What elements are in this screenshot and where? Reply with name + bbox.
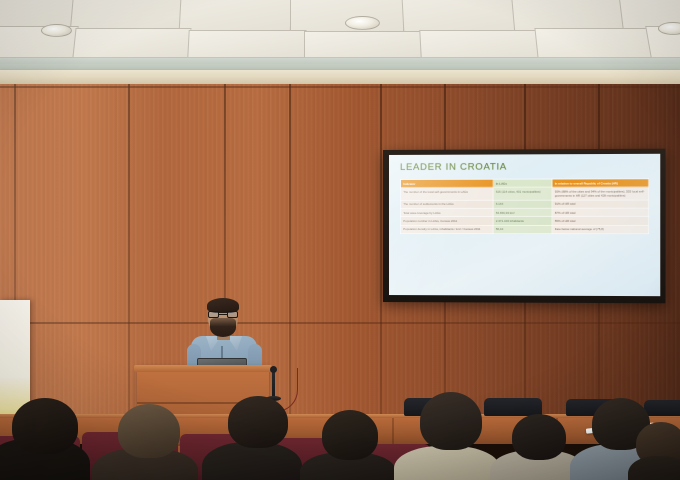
cell-lags: 56,44 (493, 225, 552, 233)
audience-head (12, 398, 78, 454)
ceiling-downlight (41, 24, 72, 37)
cell-indicator: Total area coverage by LAGs (400, 208, 493, 216)
cell-hr: 87% of HR total (552, 208, 648, 217)
slide-table: Indicator In LAGs In relation to overall… (400, 178, 649, 234)
cell-hr: 55% of HR total (552, 217, 648, 225)
cell-lags: 54.654,94 km² (493, 208, 552, 216)
cell-indicator: Population density in LAGs, inhabitants … (400, 225, 493, 233)
table-row: The number of settlements in the LAGs 6.… (400, 200, 648, 209)
table-row: Population number in LAGs, Census 2011 2… (400, 217, 648, 225)
cell-indicator: The number of settlements in the LAGs (400, 200, 493, 208)
audience-head (118, 404, 180, 458)
cell-hr: 91% of HR total (552, 200, 648, 209)
column-header-lags: In LAGs (493, 179, 552, 188)
lecture-hall-photo: LEADER IN CROATIA Indicator In LAGs In r… (0, 0, 680, 480)
ceiling-downlight (345, 16, 380, 30)
glasses-icon (208, 311, 238, 318)
slide-title: LEADER IN CROATIA (400, 161, 651, 173)
table-row: Population density in LAGs, inhabitants … (400, 225, 648, 233)
column-header-hr: In relation to overall Republic of Croat… (552, 179, 648, 188)
microphone-icon (270, 366, 277, 373)
ceiling-downlight (658, 22, 680, 35)
cell-lags: 515 (114 cities, 401 municipalities) (493, 187, 552, 200)
cell-indicator: Population number in LAGs, Census 2011 (400, 217, 493, 225)
cell-indicator: The number of the local self-governments… (400, 188, 493, 201)
presenter-beard (210, 318, 236, 337)
ceiling (0, 0, 680, 66)
chair-back (644, 400, 680, 416)
microphone-stand (272, 372, 275, 398)
cell-lags: 2.371.103 inhabitants (493, 217, 552, 225)
cell-hr: 93% (88% of the cities and 94% of the mu… (552, 187, 648, 200)
projection-screen: LEADER IN CROATIA Indicator In LAGs In r… (383, 149, 665, 304)
column-header-indicator: Indicator (400, 179, 493, 188)
chair-back (484, 398, 542, 416)
audience-head (420, 392, 482, 450)
cell-lags: 6.144 (493, 200, 552, 208)
audience-head (322, 410, 378, 460)
audience-head (228, 396, 288, 448)
table-row: Total area coverage by LAGs 54.654,94 km… (400, 208, 648, 217)
cell-hr: Fare below national average of (75,8) (552, 225, 648, 233)
wall-cornice (0, 70, 680, 85)
slide-content: LEADER IN CROATIA Indicator In LAGs In r… (389, 154, 660, 296)
audience-head (512, 414, 566, 460)
table-row: The number of the local self-governments… (400, 187, 648, 200)
slide-surface: LEADER IN CROATIA Indicator In LAGs In r… (389, 154, 660, 296)
audience-member (394, 446, 500, 480)
